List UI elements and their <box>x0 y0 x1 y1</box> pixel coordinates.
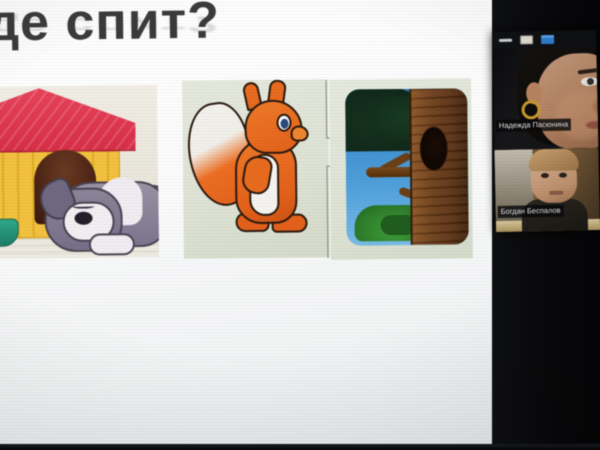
page-title: де спит? <box>0 0 220 53</box>
participant-name-student: Богдан Беспалов <box>498 205 564 218</box>
window-icon[interactable] <box>520 35 533 44</box>
tree-scene <box>345 88 469 245</box>
minimize-icon[interactable] <box>499 39 512 42</box>
video-conference-panel[interactable]: Надежда Пасюнина Богдан Беспалов <box>492 30 600 232</box>
image-squirrel[interactable] <box>182 79 330 259</box>
image-tree-hollow[interactable] <box>329 78 473 259</box>
video-panel-toolbar[interactable] <box>492 30 596 49</box>
participant-tile-teacher[interactable] <box>492 47 598 150</box>
dog-paw <box>89 233 135 256</box>
squirrel-pupil <box>280 119 288 129</box>
sleeping-dog <box>44 171 159 260</box>
image-dog-in-doghouse[interactable] <box>0 85 159 259</box>
active-window-icon[interactable] <box>541 35 554 44</box>
hair <box>528 148 578 171</box>
participant-tile-student[interactable] <box>494 148 600 232</box>
monitor-photo: де спит? де спит? <box>0 0 600 450</box>
pupil <box>587 78 594 85</box>
tree-hollow-opening <box>420 127 448 171</box>
squirrel-snout <box>291 125 309 141</box>
mouth <box>549 191 563 195</box>
monitor-bezel-bottom <box>0 444 600 450</box>
participant-name-teacher: Надежда Пасюнина <box>496 118 572 132</box>
